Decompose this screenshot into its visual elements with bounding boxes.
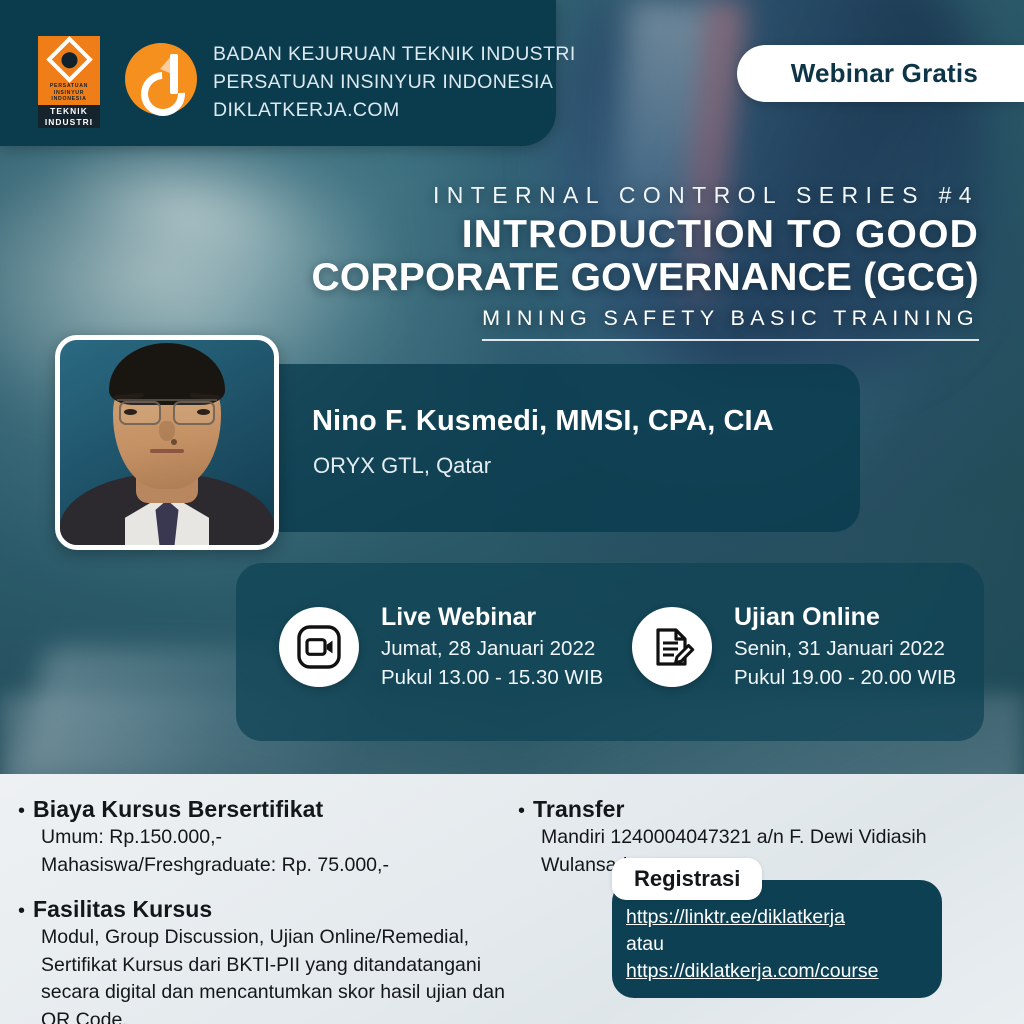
- facilities-line-3: secara digital dan mencantumkan skor has…: [41, 979, 518, 1007]
- registration-links: https://linktr.ee/diklatkerja atau https…: [626, 904, 879, 985]
- title-line-1: INTRODUCTION TO GOOD: [312, 213, 980, 256]
- event-ujian-online: Ujian Online Senin, 31 Januari 2022 Puku…: [632, 602, 956, 692]
- speaker-portrait: [55, 335, 279, 550]
- info-left-column: • Biaya Kursus Bersertifikat Umum: Rp.15…: [18, 796, 518, 1024]
- event-a-time: Pukul 13.00 - 15.30 WIB: [381, 663, 603, 692]
- spacer: [18, 879, 518, 896]
- pii-diamond-icon: [46, 36, 93, 83]
- bullet-icon: •: [518, 801, 525, 821]
- pii-caption-line1: TEKNIK: [50, 106, 88, 116]
- diklatkerja-logo: [125, 43, 197, 115]
- pii-logo-caption: TEKNIK INDUSTRI: [38, 105, 100, 128]
- event-a-texts: Live Webinar Jumat, 28 Januari 2022 Puku…: [381, 602, 603, 692]
- pii-logo: PERSATUANINSINYURINDONESIA TEKNIK INDUST…: [38, 36, 100, 128]
- bullet-icon: •: [18, 801, 25, 821]
- speaker-organization: ORYX GTL, Qatar: [313, 453, 491, 479]
- org-line-1: BADAN KEJURUAN TEKNIK INDUSTRI: [213, 40, 576, 68]
- transfer-heading: Transfer: [533, 796, 625, 823]
- transfer-heading-row: • Transfer: [518, 796, 1018, 823]
- facilities-body: Modul, Group Discussion, Ujian Online/Re…: [41, 924, 518, 1024]
- fees-body: Umum: Rp.150.000,- Mahasiswa/Freshgradua…: [41, 824, 518, 879]
- title-block: INTERNAL CONTROL SERIES #4 INTRODUCTION …: [312, 182, 980, 341]
- fees-line-1: Umum: Rp.150.000,-: [41, 824, 518, 852]
- speaker-card: [236, 364, 860, 532]
- event-b-texts: Ujian Online Senin, 31 Januari 2022 Puku…: [734, 602, 956, 692]
- registration-separator: atau: [626, 931, 879, 958]
- facilities-heading: Fasilitas Kursus: [33, 896, 212, 923]
- portrait-eye-right: [197, 409, 210, 415]
- facilities-line-2: Sertifikat Kursus dari BKTI-PII yang dit…: [41, 952, 518, 980]
- title-subtitle: MINING SAFETY BASIC TRAINING: [482, 306, 979, 341]
- webinar-poster: PERSATUANINSINYURINDONESIA TEKNIK INDUST…: [0, 0, 1024, 1024]
- fees-heading: Biaya Kursus Bersertifikat: [33, 796, 323, 823]
- pii-logo-words: PERSATUANINSINYURINDONESIA: [50, 83, 88, 103]
- fees-heading-row: • Biaya Kursus Bersertifikat: [18, 796, 518, 823]
- facilities-line-1: Modul, Group Discussion, Ujian Online/Re…: [41, 924, 518, 952]
- info-right-column: • Transfer Mandiri 1240004047321 a/n F. …: [518, 796, 1018, 879]
- video-camera-icon: [279, 607, 359, 687]
- event-b-date: Senin, 31 Januari 2022: [734, 634, 956, 663]
- portrait-eye-left: [124, 409, 137, 415]
- org-line-3: DIKLATKERJA.COM: [213, 96, 576, 124]
- organization-lines: BADAN KEJURUAN TEKNIK INDUSTRI PERSATUAN…: [213, 40, 576, 124]
- event-b-title: Ujian Online: [734, 602, 956, 632]
- pii-logo-emblem: PERSATUANINSINYURINDONESIA: [38, 36, 100, 105]
- portrait-nose: [159, 421, 175, 441]
- bullet-icon: •: [18, 901, 25, 921]
- speaker-name: Nino F. Kusmedi, MMSI, CPA, CIA: [312, 405, 774, 438]
- registration-link-2[interactable]: https://diklatkerja.com/course: [626, 958, 879, 985]
- org-line-2: PERSATUAN INSINYUR INDONESIA: [213, 68, 576, 96]
- fees-line-2: Mahasiswa/Freshgraduate: Rp. 75.000,-: [41, 852, 518, 880]
- title-kicker: INTERNAL CONTROL SERIES #4: [312, 182, 980, 209]
- title-line-2: CORPORATE GOVERNANCE (GCG): [312, 256, 980, 299]
- free-webinar-badge: Webinar Gratis: [737, 45, 1024, 102]
- event-a-title: Live Webinar: [381, 602, 603, 632]
- registration-link-1[interactable]: https://linktr.ee/diklatkerja: [626, 904, 879, 931]
- facilities-line-4: QR Code.: [41, 1007, 518, 1024]
- diklatkerja-d-icon: [139, 54, 183, 104]
- facilities-heading-row: • Fasilitas Kursus: [18, 896, 518, 923]
- event-b-time: Pukul 19.00 - 20.00 WIB: [734, 663, 956, 692]
- pii-caption-line2: INDUSTRI: [45, 117, 93, 127]
- registration-label: Registrasi: [612, 858, 762, 900]
- document-pencil-icon: [632, 607, 712, 687]
- event-a-date: Jumat, 28 Januari 2022: [381, 634, 603, 663]
- portrait-mouth: [150, 449, 184, 453]
- event-live-webinar: Live Webinar Jumat, 28 Januari 2022 Puku…: [279, 602, 603, 692]
